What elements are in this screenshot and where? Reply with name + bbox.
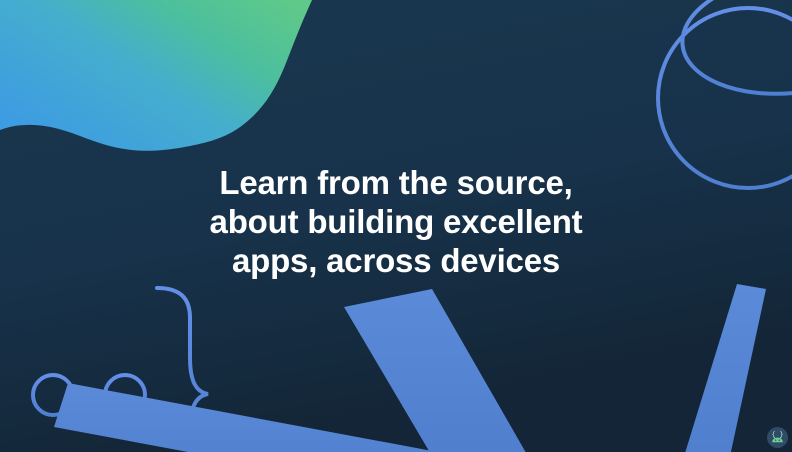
android-developers-logo[interactable]: { } <box>767 427 788 448</box>
background-graphics <box>0 0 792 452</box>
android-eye-right <box>779 439 781 441</box>
logo-braces: { } <box>772 431 784 438</box>
android-eye-left <box>775 439 777 441</box>
slide-canvas: Learn from the source, about building ex… <box>0 0 792 452</box>
